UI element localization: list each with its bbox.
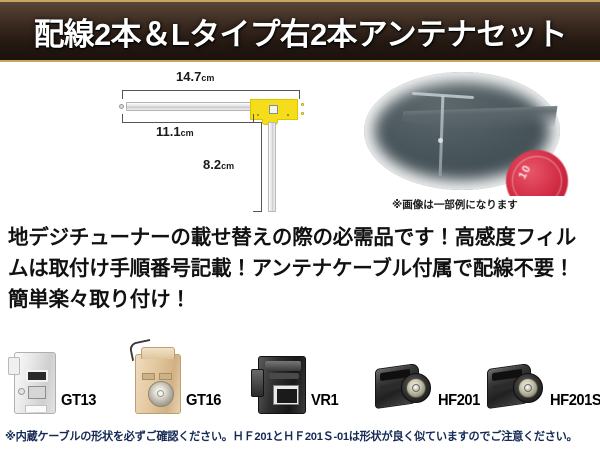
hf201s01-connector-icon [487, 364, 545, 414]
antenna-vertical-element [268, 122, 276, 212]
gt16-slot-right [159, 373, 172, 380]
bracket-inner-width [122, 114, 254, 123]
connector-item-vr1: VR1 [258, 356, 341, 414]
vr1-connector-icon [258, 356, 306, 414]
vr1-rail-lower [269, 373, 299, 379]
gt16-top-housing [141, 347, 175, 359]
sticker-number: 10 [516, 163, 533, 181]
gt13-port-lower [28, 386, 46, 399]
vr1-port-inner [277, 389, 297, 403]
product-description: 地デジチューナーの載せ替えの際の必需品です！高感度フィルムは取付け手順番号記載！… [8, 222, 594, 315]
page-title: 配線2本＆Lタイプ右2本アンテナセット [33, 9, 566, 54]
hf201-center-pin [412, 384, 420, 392]
gt16-slot-left [142, 373, 155, 380]
footer-disclaimer: ※内蔵ケーブルの形状を必ずご確認ください。ＨＦ201とＨＦ201Ｓ-01は形状が… [5, 428, 597, 444]
antenna-pad-chip [269, 105, 278, 114]
antenna-connector-pad [250, 99, 298, 120]
connector-item-gt16: GT16 [135, 354, 224, 414]
windshield-photo: 10 [352, 68, 572, 196]
bracket-total-width [122, 90, 300, 99]
antenna-dimension-diagram: 14.7cm 11.1cm 8.2cm [0, 62, 340, 212]
connector-label-gt13: GT13 [61, 392, 96, 414]
gt16-connector-icon [135, 354, 181, 414]
antenna-eyelet-left [119, 104, 124, 109]
gt16-center-pin [157, 390, 164, 397]
vr1-rail-upper [265, 361, 301, 371]
connector-label-hf201s01: HF201S-01 [550, 392, 600, 414]
connector-item-hf201: HF201 [375, 364, 484, 414]
dimension-label-vertical-height: 8.2cm [203, 157, 234, 172]
hf201-connector-icon [375, 364, 433, 414]
connector-label-gt16: GT16 [186, 392, 221, 414]
antenna-pad-hole-top [301, 103, 304, 106]
connector-label-hf201: HF201 [438, 392, 480, 414]
vr1-port [273, 385, 299, 405]
dimension-label-total-width: 14.7cm [176, 69, 214, 84]
hf201s01-center-pin [524, 384, 532, 392]
antenna-pad-dot-right [287, 114, 289, 116]
connector-item-gt13: GT13 [14, 352, 99, 414]
header-banner: 配線2本＆Lタイプ右2本アンテナセット [0, 0, 600, 62]
photo-caption: ※画像は一部例になります [392, 197, 518, 212]
antenna-horizontal-element [126, 102, 266, 111]
gt13-foot [25, 405, 47, 412]
antenna-pad-dot-left [257, 114, 259, 116]
gt13-knob [18, 388, 25, 395]
connector-type-strip: GT13 GT16 VR1 [0, 334, 600, 420]
dimension-label-inner-width: 11.1cm [156, 124, 194, 139]
connector-label-vr1: VR1 [311, 392, 338, 414]
antenna-pad-hole-bottom [301, 112, 304, 115]
connector-item-hf201s01: HF201S-01 [487, 364, 600, 414]
installed-film-node [438, 138, 443, 143]
gt13-connector-icon [14, 352, 56, 414]
gt13-port-upper [26, 370, 48, 382]
bracket-vertical-height [253, 122, 262, 212]
